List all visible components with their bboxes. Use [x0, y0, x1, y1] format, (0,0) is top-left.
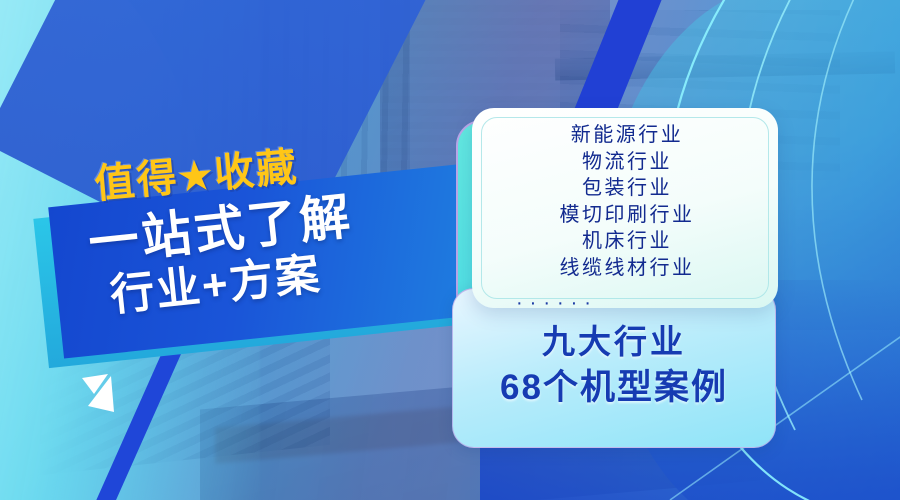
promotional-banner: 值得★收藏 一站式了解 行业+方案 新能源行业 物流行业 包装行业 模切印刷行业… — [0, 0, 900, 500]
list-item: 包装行业 — [490, 175, 764, 202]
industry-list-card: 新能源行业 物流行业 包装行业 模切印刷行业 机床行业 线缆线材行业 — [472, 108, 778, 308]
list-item: 机床行业 — [490, 228, 764, 255]
summary-card-text: 九大行业 68个机型案例 — [452, 320, 776, 412]
list-item: 物流行业 — [490, 149, 764, 176]
list-item: 模切印刷行业 — [490, 202, 764, 229]
list-item: 线缆线材行业 — [490, 255, 764, 282]
brand-logo-icon — [78, 372, 126, 424]
industry-list: 新能源行业 物流行业 包装行业 模切印刷行业 机床行业 线缆线材行业 — [490, 122, 764, 281]
summary-line-2: 68个机型案例 — [452, 364, 776, 412]
list-item: 新能源行业 — [490, 122, 764, 149]
industry-list-ellipsis: ······ — [516, 292, 598, 315]
summary-line-1: 九大行业 — [452, 320, 776, 364]
